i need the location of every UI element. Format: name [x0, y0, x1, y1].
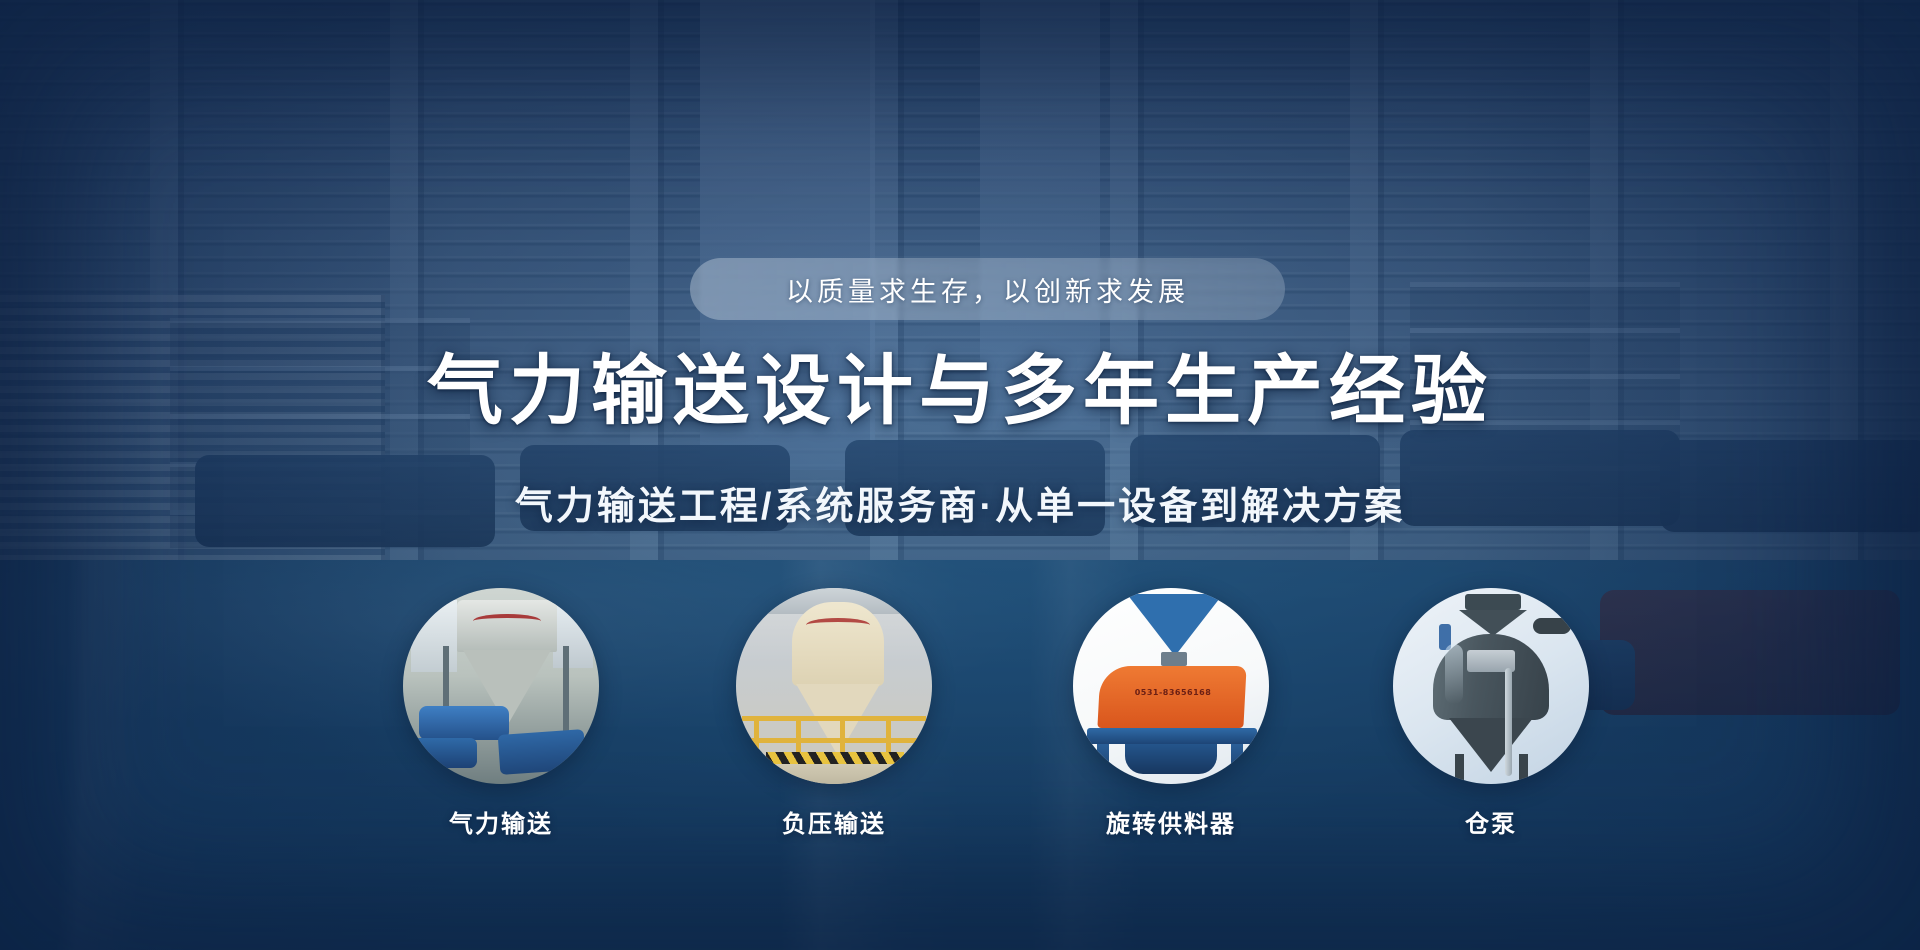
product-thumb-negative-pressure[interactable]: 负压输送: [736, 588, 932, 839]
product-thumb-silo-pump[interactable]: 仓泵: [1393, 588, 1589, 839]
page-title: 气力输送设计与多年生产经验: [0, 352, 1920, 432]
product-label: 仓泵: [1393, 804, 1589, 839]
hero-banner: 以质量求生存，以创新求发展 气力输送设计与多年生产经验 气力输送工程/系统服务商…: [0, 0, 1920, 950]
product-label: 旋转供料器: [1073, 804, 1269, 839]
hero-content: 以质量求生存，以创新求发展 气力输送设计与多年生产经验 气力输送工程/系统服务商…: [0, 0, 1920, 950]
equipment-phone-number: 0531-83656168: [1117, 688, 1229, 697]
product-thumb-pneumatic-conveying[interactable]: 气力输送: [403, 588, 599, 839]
product-label: 气力输送: [403, 804, 599, 839]
negative-pressure-conveying-image: [736, 588, 932, 784]
slogan-badge: 以质量求生存，以创新求发展: [690, 258, 1285, 320]
product-thumb-rotary-feeder[interactable]: 0531-83656168 旋转供料器: [1073, 588, 1269, 839]
silo-pump-image: [1393, 588, 1589, 784]
product-thumbnail-list: 气力输送 负压输送: [0, 588, 1920, 888]
rotary-feeder-image: 0531-83656168: [1073, 588, 1269, 784]
page-subtitle: 气力输送工程/系统服务商·从单一设备到解决方案: [0, 475, 1920, 530]
pneumatic-conveying-image: [403, 588, 599, 784]
product-label: 负压输送: [736, 804, 932, 839]
slogan-text: 以质量求生存，以创新求发展: [786, 270, 1189, 309]
